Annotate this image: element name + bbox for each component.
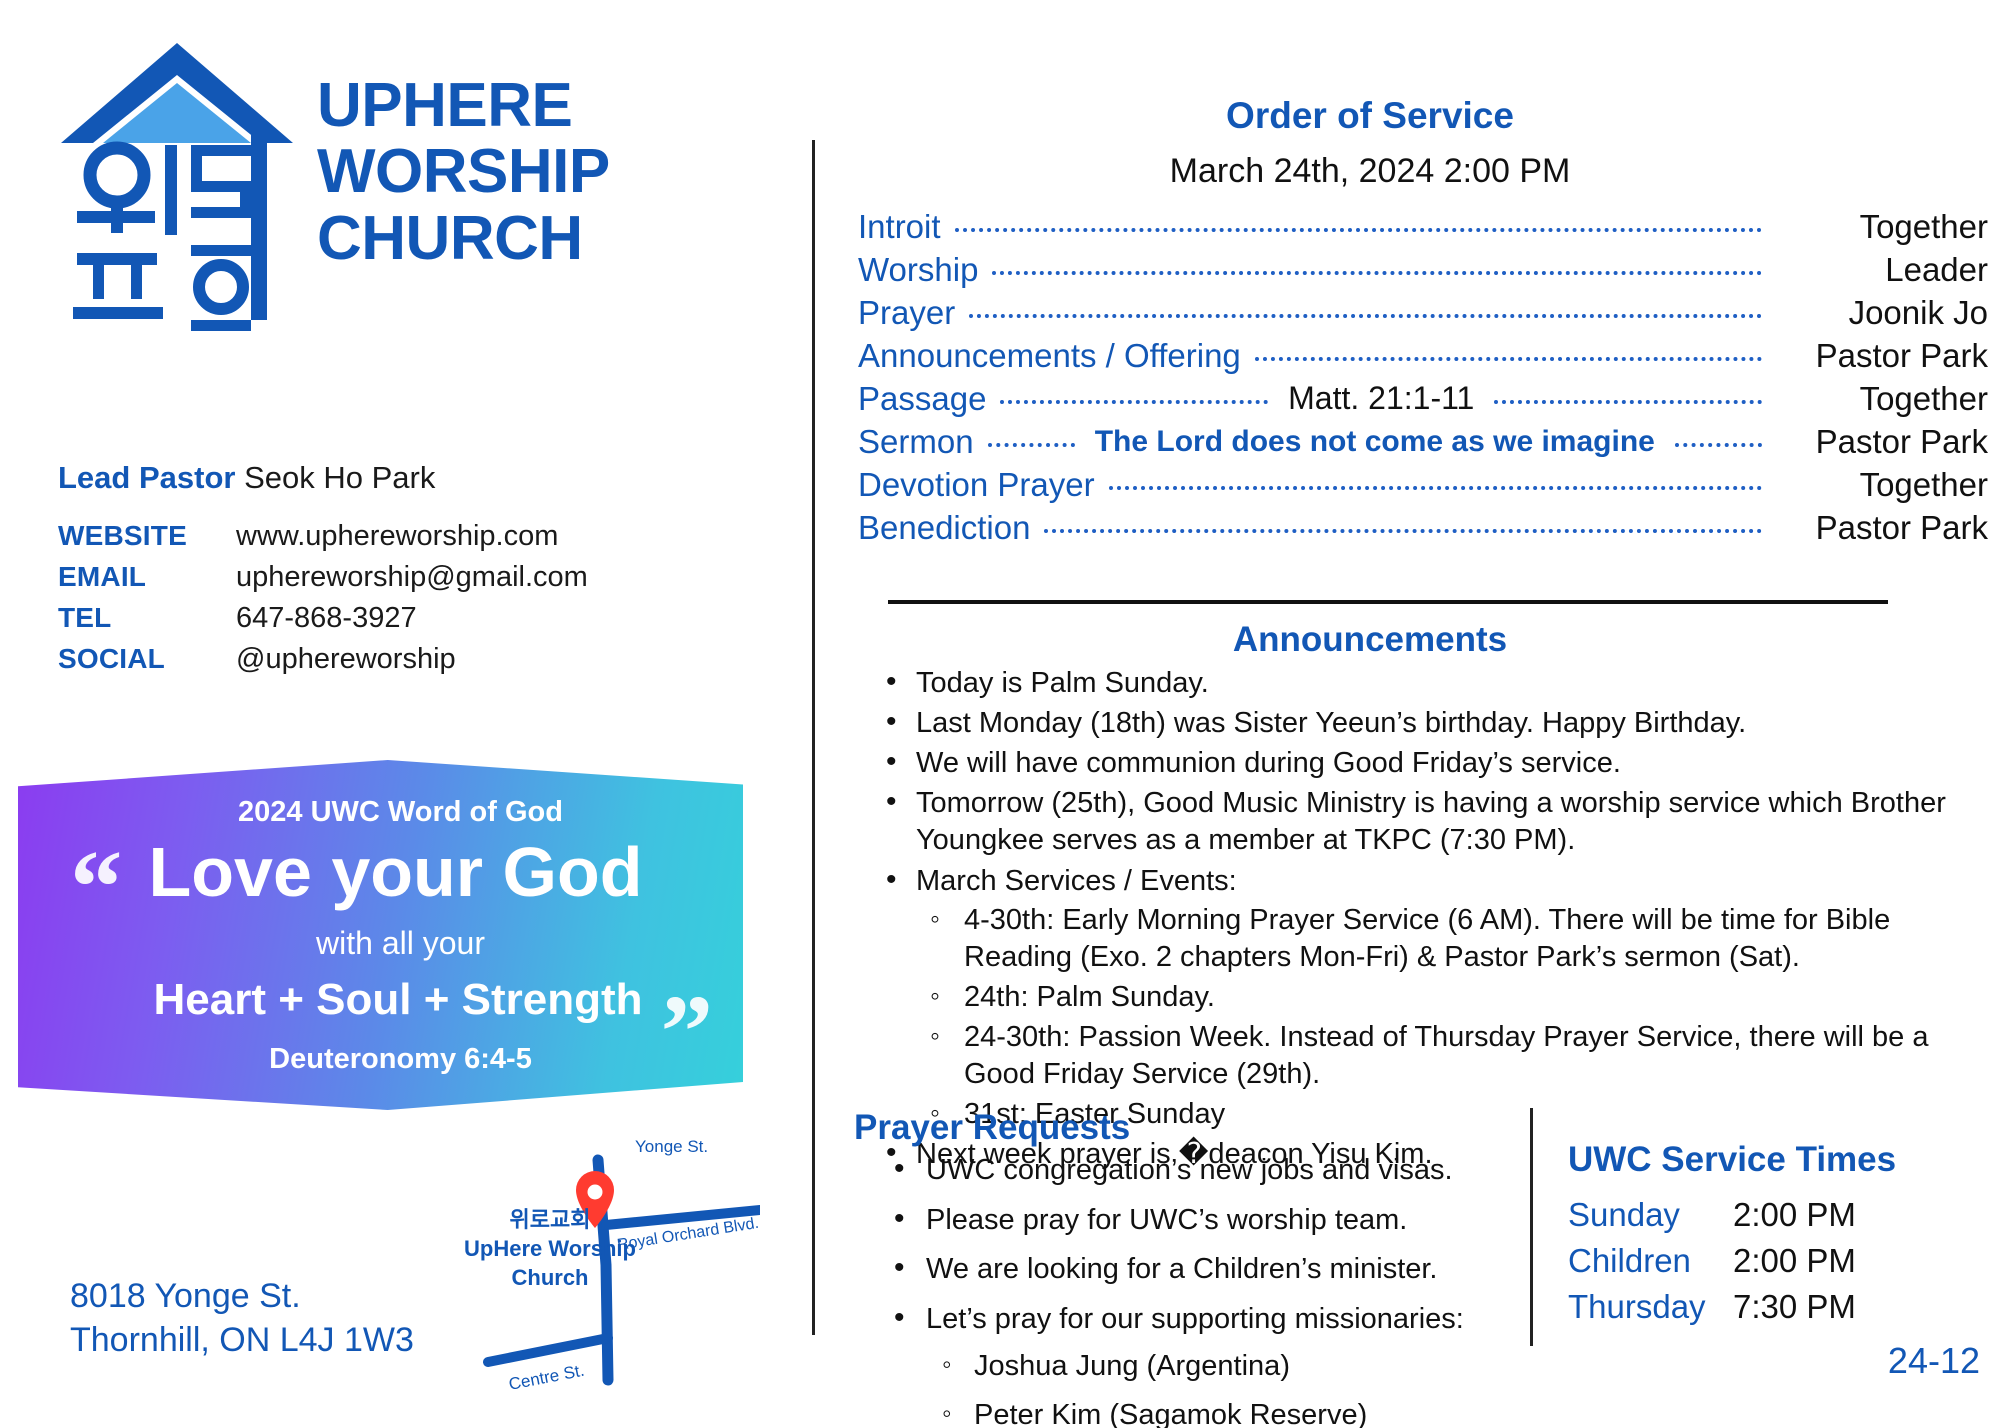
address-line-1: 8018 Yonge St.: [70, 1275, 414, 1319]
map-church-label: 위로교회 UpHere Worship Church: [450, 1205, 650, 1292]
map-label-korean: 위로교회: [450, 1205, 650, 1234]
service-item-row: Worship Leader: [858, 248, 1988, 291]
service-item-name: Passage: [858, 380, 986, 418]
verse-banner-title: 2024 UWC Word of God: [18, 796, 743, 829]
service-item-row: Benediction Pastor Park: [858, 506, 1988, 549]
dot-leader: [988, 443, 1075, 447]
verse-third-line: Heart + Soul + Strength: [18, 975, 743, 1025]
service-item-name: Benediction: [858, 509, 1030, 547]
service-item-name: Prayer: [858, 294, 955, 332]
prayer-request-text: We are looking for a Children’s minister…: [926, 1253, 1438, 1285]
dot-leader: [1000, 400, 1268, 404]
service-time-day: Children: [1568, 1242, 1733, 1280]
service-time-row: Thursday 7:30 PM: [1568, 1288, 1856, 1334]
service-time-value: 2:00 PM: [1733, 1242, 1856, 1280]
dot-leader: [969, 314, 1762, 318]
issue-number: 24-12: [1740, 1340, 1980, 1382]
service-item-row: Devotion Prayer Together: [858, 463, 1988, 506]
service-item-name: Devotion Prayer: [858, 466, 1095, 504]
prayer-request-text: UWC congregation’s new jobs and visas.: [926, 1154, 1453, 1186]
service-item-value: Pastor Park: [1776, 337, 1988, 375]
announcement-subtext: 24-30th: Passion Week. Instead of Thursd…: [964, 1021, 1928, 1090]
logo-line-3: CHURCH: [317, 206, 610, 272]
prayer-request-item: Let’s pray for our supporting missionari…: [880, 1301, 1520, 1428]
church-address: 8018 Yonge St. Thornhill, ON L4J 1W3: [70, 1275, 414, 1362]
dot-leader: [1675, 443, 1762, 447]
service-item-row: Prayer Joonik Jo: [858, 291, 1988, 334]
service-time-row: Children 2:00 PM: [1568, 1242, 1856, 1288]
contact-key-social: SOCIAL: [58, 643, 236, 675]
service-item-value: Joonik Jo: [1776, 294, 1988, 332]
announcement-subtext: 24th: Palm Sunday.: [964, 981, 1215, 1013]
contact-key-email: EMAIL: [58, 561, 236, 593]
service-time-day: Thursday: [1568, 1288, 1733, 1326]
service-item-row: Introit Together: [858, 205, 1988, 248]
verse-reference: Deuteronomy 6:4-5: [18, 1043, 743, 1076]
church-logo-block: UPHERE WORSHIP CHURCH: [55, 35, 755, 335]
service-item-value: Together: [1776, 380, 1988, 418]
contact-row-email: EMAIL uphereworship@gmail.com: [58, 561, 588, 602]
announcements-list: Today is Palm Sunday. Last Monday (18th)…: [870, 665, 1975, 1176]
map-label-line-2: Church: [450, 1263, 650, 1292]
dot-leader: [1255, 357, 1762, 361]
lead-pastor-label: Lead Pastor: [58, 460, 235, 495]
service-item-row: Passage Matt. 21:1-11 Together: [858, 377, 1988, 420]
contact-value-social[interactable]: @uphereworship: [236, 643, 456, 676]
dot-leader: [992, 271, 1762, 275]
location-map[interactable]: Yonge St. Royal Orchard Blvd. Centre St.…: [430, 1130, 760, 1420]
service-item-name: Worship: [858, 251, 978, 289]
service-time-day: Sunday: [1568, 1196, 1733, 1234]
dot-leader: [1494, 400, 1762, 404]
lead-pastor-line: Lead Pastor Seok Ho Park: [58, 460, 435, 496]
service-date: March 24th, 2024 2:00 PM: [840, 152, 1900, 191]
announcement-text: Tomorrow (25th), Good Music Ministry is …: [916, 787, 1946, 856]
contact-row-tel: TEL 647-868-3927: [58, 602, 588, 643]
quote-close-icon: ”: [661, 995, 714, 1069]
contact-value-tel[interactable]: 647-868-3927: [236, 602, 417, 635]
announcement-subtext: 4-30th: Early Morning Prayer Service (6 …: [964, 904, 1890, 973]
service-item-name: Sermon: [858, 423, 974, 461]
contact-row-social: SOCIAL @uphereworship: [58, 643, 588, 684]
prayer-request-item: We are looking for a Children’s minister…: [880, 1251, 1520, 1288]
announcement-text: Last Monday (18th) was Sister Yeeun’s bi…: [916, 707, 1746, 739]
contact-info: WEBSITE www.uphereworship.com EMAIL uphe…: [58, 520, 588, 684]
announcement-text: We will have communion during Good Frida…: [916, 747, 1621, 779]
service-time-value: 2:00 PM: [1733, 1196, 1856, 1234]
dot-leader: [1044, 529, 1762, 533]
announcement-item: Today is Palm Sunday.: [870, 665, 1975, 702]
contact-key-tel: TEL: [58, 602, 236, 634]
service-times-title: UWC Service Times: [1568, 1140, 1896, 1180]
prayer-request-item: UWC congregation’s new jobs and visas.: [880, 1152, 1520, 1189]
service-item-detail: Matt. 21:1-11: [1282, 380, 1480, 417]
service-item-row: Sermon The Lord does not come as we imag…: [858, 420, 1988, 463]
prayer-requests-list: UWC congregation’s new jobs and visas. P…: [880, 1152, 1520, 1428]
contact-value-website[interactable]: www.uphereworship.com: [236, 520, 558, 553]
lead-pastor-name: Seok Ho Park: [244, 460, 435, 495]
service-item-value: Together: [1776, 466, 1988, 504]
dot-leader: [955, 228, 1762, 232]
column-divider: [812, 140, 815, 1335]
prayer-request-text: Let’s pray for our supporting missionari…: [926, 1303, 1464, 1335]
svg-text:Centre St.: Centre St.: [507, 1361, 586, 1394]
map-label-line-1: UpHere Worship: [450, 1234, 650, 1263]
announcement-subitem: 24th: Palm Sunday.: [916, 979, 1975, 1016]
dot-leader: [1109, 486, 1762, 490]
church-house-logo-icon: [55, 35, 300, 335]
missionary-name: Joshua Jung (Argentina): [974, 1350, 1290, 1382]
service-time-value: 7:30 PM: [1733, 1288, 1856, 1326]
verse-main-text: Love your God: [18, 832, 743, 912]
announcement-subitem: 4-30th: Early Morning Prayer Service (6 …: [916, 902, 1975, 976]
bulletin-page: UPHERE WORSHIP CHURCH Lead Pastor Seok H…: [0, 0, 2000, 1428]
address-line-2: Thornhill, ON L4J 1W3: [70, 1319, 414, 1363]
announcement-item: March Services / Events: 4-30th: Early M…: [870, 863, 1975, 1134]
service-item-row: Announcements / Offering Pastor Park: [858, 334, 1988, 377]
right-column: Order of Service March 24th, 2024 2:00 P…: [840, 0, 2000, 1428]
order-of-service-list: Introit Together Worship Leader Prayer J…: [858, 205, 1988, 549]
missionary-name: Peter Kim (Sagamok Reserve): [974, 1399, 1367, 1428]
service-item-name: Introit: [858, 208, 941, 246]
service-times-divider: [1530, 1108, 1533, 1346]
announcements-title: Announcements: [840, 620, 1900, 660]
missionary-item: Joshua Jung (Argentina): [926, 1348, 1520, 1385]
announcement-subitem: 24-30th: Passion Week. Instead of Thursd…: [916, 1019, 1975, 1093]
service-item-value: Pastor Park: [1776, 423, 1988, 461]
logo-line-1: UPHERE: [317, 73, 610, 139]
logo-line-2: WORSHIP: [317, 139, 610, 205]
missionary-item: Peter Kim (Sagamok Reserve): [926, 1397, 1520, 1428]
verse-sub-text: with all your: [18, 925, 743, 962]
prayer-request-text: Please pray for UWC’s worship team.: [926, 1204, 1407, 1236]
announcement-item: We will have communion during Good Frida…: [870, 745, 1975, 782]
svg-text:Yonge St.: Yonge St.: [635, 1137, 708, 1156]
prayer-requests-title: Prayer Requests: [854, 1108, 1130, 1148]
announcement-text: March Services / Events:: [916, 865, 1237, 897]
prayer-request-item: Please pray for UWC’s worship team.: [880, 1202, 1520, 1239]
service-item-value: Leader: [1776, 251, 1988, 289]
service-time-row: Sunday 2:00 PM: [1568, 1196, 1856, 1242]
section-divider: [888, 600, 1888, 604]
service-item-value: Pastor Park: [1776, 509, 1988, 547]
contact-key-website: WEBSITE: [58, 520, 236, 552]
sermon-title: The Lord does not come as we imagine: [1089, 425, 1661, 459]
church-wordmark: UPHERE WORSHIP CHURCH: [317, 73, 610, 272]
announcement-item: Last Monday (18th) was Sister Yeeun’s bi…: [870, 705, 1975, 742]
contact-row-website: WEBSITE www.uphereworship.com: [58, 520, 588, 561]
announcement-item: Tomorrow (25th), Good Music Ministry is …: [870, 785, 1975, 859]
announcement-text: Today is Palm Sunday.: [916, 667, 1209, 699]
service-times-rows: Sunday 2:00 PM Children 2:00 PM Thursday…: [1568, 1196, 1856, 1334]
word-of-god-banner: “ 2024 UWC Word of God Love your God wit…: [18, 760, 743, 1110]
left-column: UPHERE WORSHIP CHURCH Lead Pastor Seok H…: [0, 0, 810, 1428]
service-item-name: Announcements / Offering: [858, 337, 1241, 375]
contact-value-email[interactable]: uphereworship@gmail.com: [236, 561, 588, 594]
order-of-service-title: Order of Service: [840, 95, 1900, 137]
service-item-value: Together: [1776, 208, 1988, 246]
